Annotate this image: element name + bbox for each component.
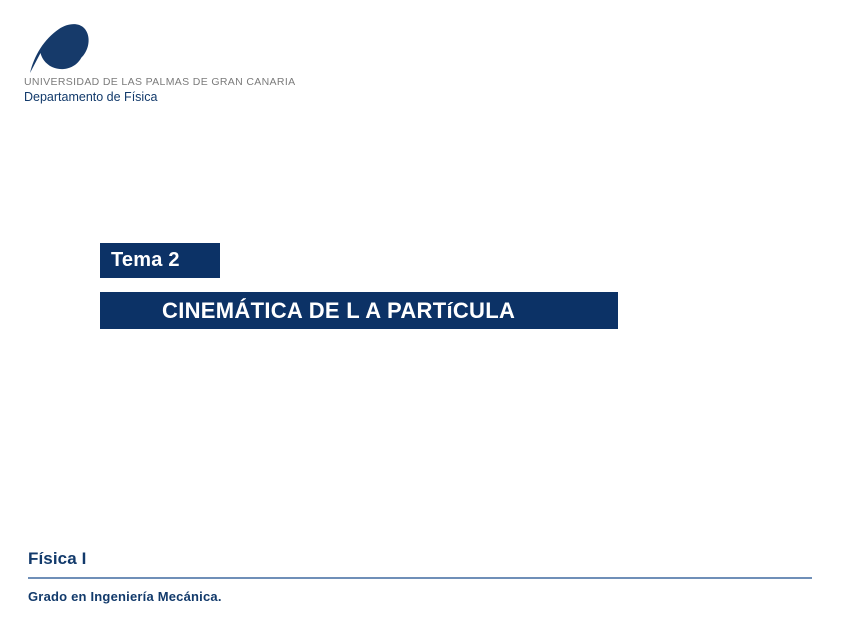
presentation-title-slide: UNIVERSIDAD DE LAS PALMAS DE GRAN CANARI… — [0, 0, 848, 636]
department-name: Departamento de Física — [24, 90, 354, 105]
degree-name: Grado en Ingeniería Mecánica. — [28, 588, 812, 605]
ulpgc-wave-logo-icon — [28, 22, 94, 74]
slide-title: CINEMÁTICA DE L A PARTíCULA — [100, 298, 515, 324]
course-name: Física I — [28, 548, 812, 570]
slide-footer: Física I Grado en Ingeniería Mecánica. — [28, 548, 812, 605]
topic-number-label: Tema 2 — [100, 249, 180, 272]
topic-number-badge: Tema 2 — [100, 243, 220, 278]
footer-divider — [28, 577, 812, 579]
institution-brand-block: UNIVERSIDAD DE LAS PALMAS DE GRAN CANARI… — [24, 22, 354, 105]
slide-title-bar: CINEMÁTICA DE L A PARTíCULA — [100, 292, 618, 329]
university-name: UNIVERSIDAD DE LAS PALMAS DE GRAN CANARI… — [24, 76, 354, 89]
